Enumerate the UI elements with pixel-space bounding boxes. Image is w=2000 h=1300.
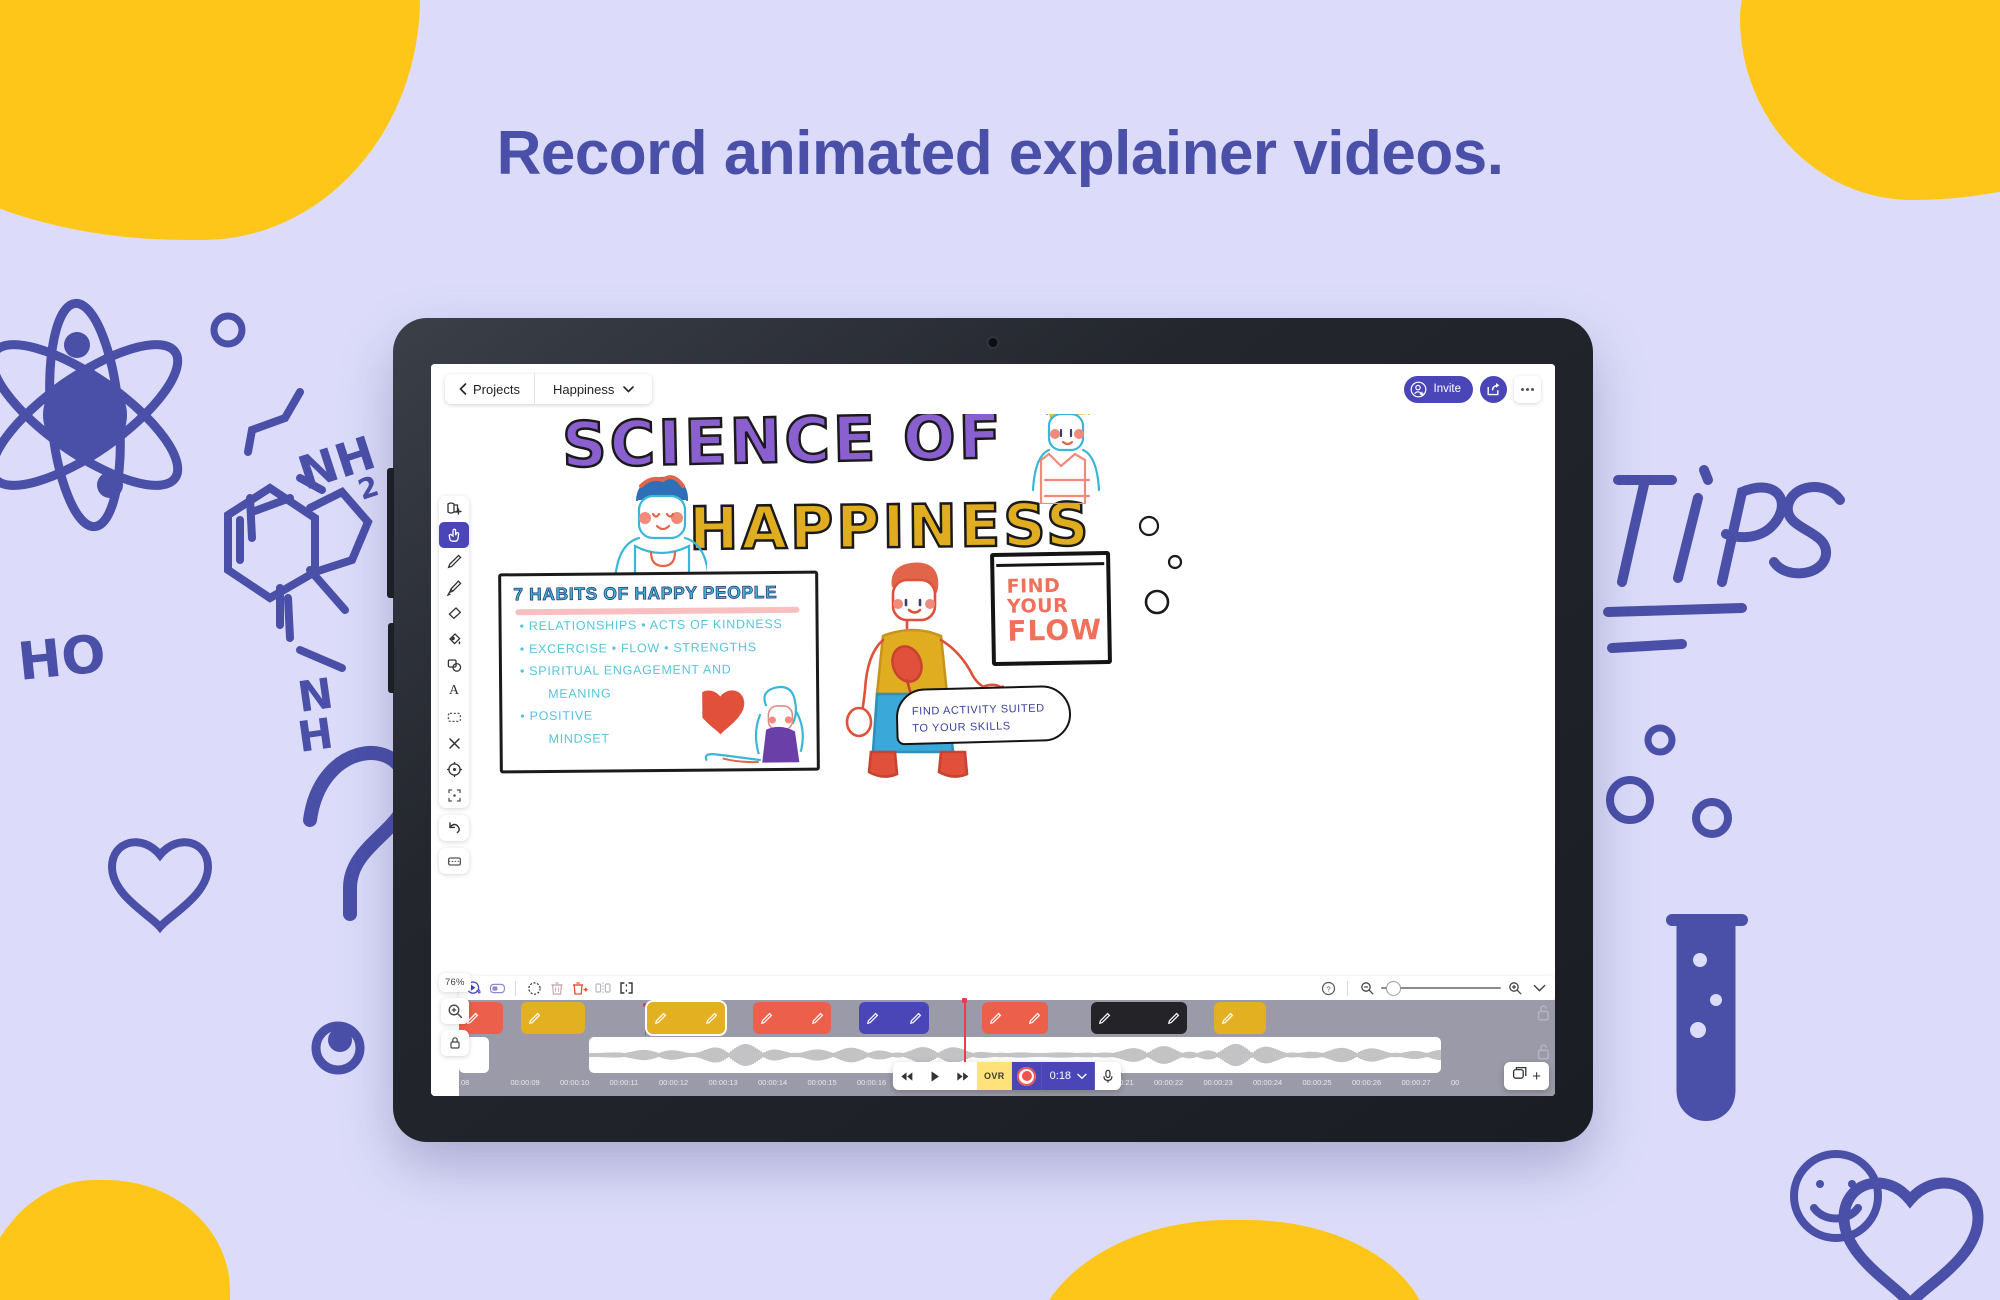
ruler-tick: 00:00:09 bbox=[511, 1078, 540, 1087]
breadcrumb: Projects Happiness bbox=[445, 374, 652, 404]
delete-forward-button[interactable] bbox=[570, 979, 590, 997]
doodle-label-nh2-sub: 2 bbox=[354, 469, 383, 506]
artwork-seated-girl-figure bbox=[702, 684, 813, 767]
pencil-icon bbox=[909, 1012, 922, 1025]
canvas-zoom-level[interactable]: 76% bbox=[439, 973, 471, 992]
trash-forward-icon bbox=[572, 981, 588, 996]
pencil-icon bbox=[1098, 1012, 1111, 1025]
timeline-clip[interactable] bbox=[1214, 1002, 1266, 1034]
delete-tool[interactable] bbox=[439, 730, 469, 756]
playback-time-dropdown[interactable]: 0:18 bbox=[1042, 1062, 1095, 1090]
slider-toggle-tool[interactable] bbox=[487, 979, 507, 997]
playback-time-label: 0:18 bbox=[1050, 1070, 1071, 1082]
undo-button[interactable] bbox=[439, 815, 469, 841]
shapes-tool[interactable] bbox=[439, 652, 469, 678]
play-icon bbox=[929, 1070, 941, 1083]
chevron-down-icon bbox=[1077, 1073, 1087, 1080]
add-frame-tool[interactable] bbox=[439, 496, 469, 522]
help-circle-icon: ? bbox=[1321, 981, 1336, 996]
tablet-power-button bbox=[388, 623, 394, 693]
timeline-clip[interactable] bbox=[859, 1002, 929, 1034]
add-frame-plus-button[interactable]: + bbox=[1532, 1069, 1541, 1084]
artwork-flow-poster: FIND YOUR FLOW bbox=[990, 551, 1112, 666]
lock-icon bbox=[447, 1035, 463, 1051]
pencil-icon bbox=[811, 1012, 824, 1025]
artwork-circle-3 bbox=[1146, 591, 1168, 613]
ruler-tick: 00:00:15 bbox=[808, 1078, 837, 1087]
ruler-tick: 08 bbox=[461, 1078, 469, 1087]
overwrite-mode-badge[interactable]: OVR bbox=[977, 1062, 1012, 1090]
rewind-icon bbox=[900, 1071, 914, 1082]
frame-view-icon bbox=[446, 853, 463, 870]
rewind-button[interactable] bbox=[893, 1062, 921, 1090]
flow-poster-text: FIND YOUR FLOW bbox=[1006, 575, 1102, 647]
track-locks bbox=[1536, 1004, 1551, 1066]
unlock-icon bbox=[1536, 1004, 1551, 1022]
circle-doodle-2 bbox=[1648, 728, 1672, 752]
slider-toggle-icon bbox=[489, 982, 506, 995]
tool-group-undo bbox=[439, 815, 469, 841]
pencil-icon bbox=[1221, 1012, 1234, 1025]
divider bbox=[515, 981, 516, 996]
timeline-clip[interactable] bbox=[1091, 1002, 1187, 1034]
artwork-habits-card: 7 HABITS OF HAPPY PEOPLE RELATIONSHIPS •… bbox=[498, 571, 820, 774]
target-icon bbox=[446, 761, 463, 778]
trash-button[interactable] bbox=[547, 979, 567, 997]
timeline-toolbar-right: ? bbox=[1318, 979, 1555, 997]
test-tube-doodle bbox=[1672, 920, 1742, 1116]
artwork-circle-1 bbox=[1140, 517, 1158, 535]
canvas-lock-button[interactable] bbox=[441, 1030, 469, 1056]
playback-controls: OVR 0:18 bbox=[893, 1062, 1121, 1090]
marquee-select-button[interactable] bbox=[524, 979, 544, 997]
add-frame-icon bbox=[446, 501, 463, 518]
pen-tool[interactable] bbox=[439, 548, 469, 574]
microphone-button[interactable] bbox=[1095, 1062, 1121, 1090]
doodle-label-ho: HO bbox=[15, 624, 109, 693]
duplicate-frame-button[interactable] bbox=[1512, 1066, 1528, 1086]
page-title: Record animated explainer videos. bbox=[0, 118, 2000, 189]
timeline-panel: ? bbox=[459, 976, 1555, 1096]
doodle-label-n: N bbox=[295, 668, 337, 721]
timeline-clip[interactable] bbox=[647, 1002, 725, 1034]
habits-heading-underline bbox=[515, 607, 799, 615]
more-options-button[interactable] bbox=[1514, 376, 1541, 403]
dashed-circle-icon bbox=[527, 981, 542, 996]
tips-text-doodle bbox=[1608, 470, 1840, 648]
canvas-zoom-in-button[interactable] bbox=[441, 998, 469, 1024]
undo-arrow-icon bbox=[446, 820, 463, 837]
marker-icon bbox=[446, 579, 463, 596]
timeline-toolbar: ? bbox=[459, 976, 1555, 1000]
serotonin-molecule-doodle bbox=[228, 392, 368, 668]
ruler-tick: 00:00:24 bbox=[1253, 1078, 1282, 1087]
back-to-projects-label: Projects bbox=[473, 382, 520, 397]
speech-bubble-line2: TO YOUR SKILLS bbox=[912, 717, 1045, 737]
video-track[interactable] bbox=[459, 1002, 1555, 1034]
magnifier-plus-icon bbox=[447, 1003, 463, 1019]
timeline-zoom-slider[interactable] bbox=[1381, 981, 1501, 995]
ruler-tick: 00:00:26 bbox=[1352, 1078, 1381, 1087]
timeline-clip[interactable] bbox=[521, 1002, 585, 1034]
ruler-tick: 00:00:14 bbox=[758, 1078, 787, 1087]
back-to-projects-button[interactable]: Projects bbox=[445, 374, 535, 404]
forward-button[interactable] bbox=[949, 1062, 977, 1090]
pencil-icon bbox=[760, 1012, 773, 1025]
hand-tool[interactable] bbox=[439, 522, 469, 548]
project-name-label: Happiness bbox=[553, 382, 614, 397]
hand-pointer-icon bbox=[446, 527, 463, 544]
crop-tool[interactable] bbox=[439, 782, 469, 808]
background-blob-bottom-left bbox=[0, 1180, 230, 1300]
clip-bracket-button[interactable] bbox=[616, 979, 636, 997]
ruler-tick: 00:00:27 bbox=[1402, 1078, 1431, 1087]
text-tool[interactable]: A bbox=[439, 678, 469, 704]
close-x-icon bbox=[446, 735, 463, 752]
share-icon bbox=[1486, 382, 1501, 397]
dot bbox=[1531, 388, 1534, 391]
flow-poster-line1: FIND bbox=[1006, 575, 1101, 597]
project-name-dropdown[interactable]: Happiness bbox=[535, 374, 652, 404]
split-clip-button[interactable] bbox=[593, 979, 613, 997]
artwork-speech-bubble: FIND ACTIVITY SUITED TO YOUR SKILLS bbox=[895, 685, 1071, 746]
text-tool-label: A bbox=[449, 683, 459, 699]
timeline-clip[interactable] bbox=[982, 1002, 1048, 1034]
unlock-icon bbox=[1536, 1043, 1551, 1061]
smiley-face-doodle bbox=[1794, 1154, 1878, 1238]
habits-row: RELATIONSHIPS • ACTS OF KINDNESS bbox=[520, 618, 808, 633]
target-tool[interactable] bbox=[439, 756, 469, 782]
frame-view-button[interactable] bbox=[439, 848, 469, 874]
dot bbox=[1526, 388, 1529, 391]
magnifier-plus-icon bbox=[1508, 981, 1522, 995]
pencil-icon bbox=[528, 1012, 541, 1025]
select-region-tool[interactable] bbox=[439, 704, 469, 730]
ruler-tick: 00 bbox=[1451, 1078, 1459, 1087]
split-clip-icon bbox=[595, 981, 611, 995]
artwork-man-figure bbox=[611, 472, 707, 582]
background-blob-bottom-middle bbox=[1030, 1220, 1430, 1300]
duplicate-frame-icon bbox=[1512, 1066, 1528, 1081]
app-topbar: Projects Happiness I bbox=[431, 364, 1555, 414]
chevron-left-icon bbox=[459, 383, 467, 395]
tablet-screen: SCIENCE OF HAPPINESS bbox=[431, 364, 1555, 1096]
invite-label: Invite bbox=[1434, 383, 1462, 395]
record-dot bbox=[1022, 1071, 1032, 1081]
microphone-icon bbox=[1102, 1069, 1114, 1084]
ruler-tick: 00:00:22 bbox=[1154, 1078, 1183, 1087]
fill-tool[interactable] bbox=[439, 626, 469, 652]
tool-group-main: A bbox=[439, 496, 469, 808]
record-ring bbox=[1017, 1067, 1036, 1086]
track-lock-video[interactable] bbox=[1536, 1004, 1551, 1027]
doodle-label-h: H bbox=[295, 708, 337, 761]
ruler-tick: 00:00:12 bbox=[659, 1078, 688, 1087]
pencil-icon bbox=[1167, 1012, 1180, 1025]
canvas-zoom-controls: 76% bbox=[439, 973, 471, 1056]
heart-doodle-left bbox=[112, 842, 208, 927]
timeline-toolbar-left bbox=[459, 979, 636, 997]
trash-icon bbox=[550, 981, 564, 996]
eraser-tool[interactable] bbox=[439, 600, 469, 626]
circle-doodle-3 bbox=[1610, 780, 1650, 820]
magnifier-minus-icon bbox=[1360, 981, 1374, 995]
tablet-device: SCIENCE OF HAPPINESS bbox=[393, 318, 1593, 1142]
timeline-clip[interactable] bbox=[753, 1002, 831, 1034]
timeline-collapse-button[interactable] bbox=[1529, 979, 1549, 997]
habits-row: SPIRITUAL ENGAGEMENT AND bbox=[520, 663, 808, 678]
speech-bubble-text: FIND ACTIVITY SUITED TO YOUR SKILLS bbox=[912, 700, 1046, 736]
ruler-tick: 00:00:11 bbox=[610, 1078, 639, 1087]
tool-group-frame bbox=[439, 848, 469, 874]
pencil-icon bbox=[866, 1012, 879, 1025]
shapes-icon bbox=[446, 657, 463, 674]
speech-bubble-line1: FIND ACTIVITY SUITED bbox=[912, 700, 1045, 720]
ruler-tick: 00:00:10 bbox=[560, 1078, 589, 1087]
marker-tool[interactable] bbox=[439, 574, 469, 600]
tablet-volume-button bbox=[387, 468, 394, 598]
artwork-circle-2 bbox=[1169, 556, 1181, 568]
flow-poster-line3: FLOW bbox=[1007, 615, 1102, 646]
ruler-tick: 00:00:25 bbox=[1303, 1078, 1332, 1087]
artwork-circles-group bbox=[1121, 512, 1191, 652]
clip-marker-line bbox=[645, 1003, 646, 1035]
doodle-label-nh2: NH bbox=[292, 425, 382, 500]
invite-button[interactable]: Invite bbox=[1404, 376, 1474, 403]
fast-forward-icon bbox=[956, 1071, 970, 1082]
add-frame-bar: + bbox=[1504, 1062, 1549, 1090]
circle-doodle-1 bbox=[214, 316, 242, 344]
pen-icon bbox=[446, 553, 463, 570]
play-button[interactable] bbox=[921, 1062, 949, 1090]
timeline-zoom-in-button[interactable] bbox=[1505, 979, 1525, 997]
timeline-zoom-out-button[interactable] bbox=[1357, 979, 1377, 997]
pencil-icon bbox=[989, 1012, 1002, 1025]
chevron-down-icon bbox=[623, 386, 634, 393]
dot bbox=[1521, 388, 1524, 391]
topbar-actions: Invite bbox=[1404, 376, 1542, 403]
crop-frame-icon bbox=[446, 787, 463, 804]
clip-bracket-icon bbox=[618, 981, 635, 995]
ruler-tick: 00:00:16 bbox=[857, 1078, 886, 1087]
eraser-icon bbox=[446, 605, 463, 622]
ruler-tick: 00:00:13 bbox=[709, 1078, 738, 1087]
habits-row: EXCERCISE • FLOW • STRENGTHS bbox=[520, 640, 808, 655]
record-button[interactable] bbox=[1012, 1062, 1042, 1090]
share-button[interactable] bbox=[1480, 376, 1507, 403]
marquee-select-icon bbox=[446, 709, 463, 726]
heart-doodle-right bbox=[1844, 1183, 1978, 1300]
pencil-icon bbox=[654, 1012, 667, 1025]
divider bbox=[1347, 981, 1348, 996]
svg-text:?: ? bbox=[1326, 984, 1330, 993]
ruler-tick: 00:00:23 bbox=[1204, 1078, 1233, 1087]
left-toolbar: A bbox=[439, 496, 469, 874]
habits-card-heading: 7 HABITS OF HAPPY PEOPLE bbox=[513, 582, 777, 605]
add-person-icon bbox=[1410, 381, 1427, 398]
atom-doodle bbox=[0, 300, 197, 529]
pencil-icon bbox=[705, 1012, 718, 1025]
fill-bucket-icon bbox=[446, 631, 463, 648]
chevron-down-icon bbox=[1533, 984, 1546, 993]
circle-doodle-4 bbox=[1696, 802, 1728, 834]
help-button[interactable]: ? bbox=[1318, 979, 1338, 997]
slider-knob[interactable] bbox=[1387, 982, 1400, 995]
pencil-icon bbox=[1028, 1012, 1041, 1025]
